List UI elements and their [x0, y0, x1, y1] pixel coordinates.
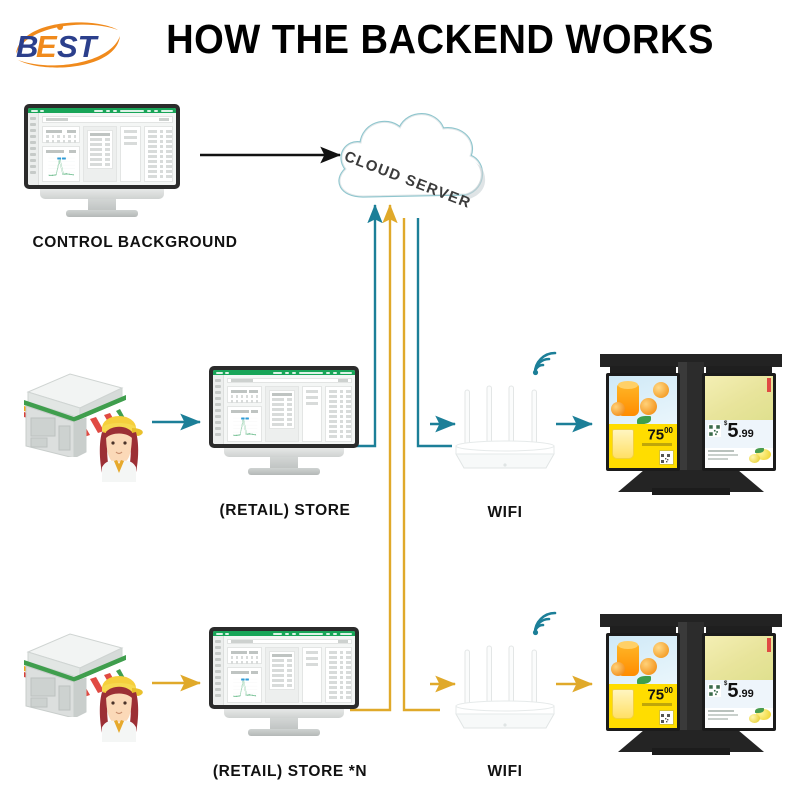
dashboard-col-table	[144, 126, 173, 182]
dashboard-col-left	[227, 647, 262, 703]
dashboard-list-panel	[87, 130, 113, 169]
wifi-label-top: WIFI	[440, 504, 570, 522]
topbar-right-icons	[94, 110, 173, 112]
retail-store-n-monitor	[209, 627, 359, 709]
signage-right-screen: $5.99	[702, 633, 776, 731]
dashboard-sidebar	[213, 636, 224, 705]
dashboard-filter-panel	[227, 386, 262, 403]
digital-signage-bottom: 7500	[592, 612, 790, 762]
wifi-label-bottom: WIFI	[440, 763, 570, 781]
signage-right-price: 5	[727, 420, 738, 442]
dashboard-col-left	[227, 386, 262, 442]
dashboard-screen	[213, 631, 355, 705]
topbar-right-icons	[273, 372, 352, 374]
wifi-signal-icon-top	[530, 349, 560, 377]
monitor-bezel	[24, 104, 180, 189]
wifi-signal-icon-bottom	[530, 609, 560, 637]
retail-n-monitor-chin	[224, 709, 344, 718]
store-clerk-n-icon	[88, 672, 150, 742]
qr-code-icon	[659, 450, 674, 465]
qr-code-icon	[659, 710, 674, 725]
topbar-left-icons	[31, 110, 44, 112]
flow-cloud-down-to-wifi-n	[404, 218, 440, 710]
line-chart	[46, 155, 76, 178]
store-clerk-icon	[88, 412, 150, 482]
dashboard-main	[224, 636, 355, 705]
retail-monitor-chin	[224, 448, 344, 457]
logo-text-st: ST	[57, 29, 100, 64]
signage-right-cents: .99	[738, 688, 753, 700]
wifi-router-bottom	[450, 642, 560, 734]
signage-left-screen: 7500	[606, 633, 680, 731]
digital-signage-top: 7500	[592, 352, 790, 502]
signage-right-screen: $5.99	[702, 373, 776, 471]
dashboard-col-narrow	[120, 126, 141, 182]
line-chart	[231, 415, 258, 438]
dashboard-screen	[28, 108, 176, 185]
dashboard-screen	[213, 370, 355, 444]
control-monitor-base	[66, 210, 138, 217]
dashboard-sidebar	[28, 113, 39, 185]
dashboard-columns	[42, 126, 173, 182]
dashboard-columns	[227, 647, 352, 703]
flow-cloud-down-to-wifi	[418, 218, 452, 446]
best-logo: B E ST	[8, 14, 128, 74]
dashboard-body	[213, 375, 355, 444]
signage-left-cents: 00	[664, 426, 673, 435]
topbar-right-icons	[273, 633, 352, 635]
dashboard-col-mid	[83, 126, 117, 182]
dashboard-sidebar	[213, 375, 224, 444]
signage-left-cents: 00	[664, 686, 673, 695]
retail-n-monitor-base	[248, 729, 320, 736]
page-title: HOW THE BACKEND WORKS	[152, 16, 729, 63]
dashboard-breadcrumb	[227, 639, 352, 644]
signage-left-price: 75	[647, 426, 664, 443]
dashboard-col-narrow	[302, 647, 322, 703]
logo-text-e: E	[36, 29, 58, 64]
signage-left-price: 75	[647, 686, 664, 703]
dashboard-breadcrumb	[42, 116, 173, 123]
dashboard-body	[28, 113, 176, 185]
dashboard-col-left	[42, 126, 80, 182]
signage-right-cents: .99	[738, 428, 753, 440]
dashboard-chart-panel	[227, 667, 262, 703]
retail-store-label: (RETAIL) STORE	[200, 502, 370, 520]
dashboard-list-panel	[269, 651, 295, 690]
topbar-left-icons	[216, 372, 229, 374]
retail-store-monitor	[209, 366, 359, 448]
wifi-router-top	[450, 382, 560, 474]
retail-store-n-label: (RETAIL) STORE *N	[195, 763, 385, 781]
dashboard-col-mid	[265, 647, 299, 703]
dashboard-chart-panel	[227, 406, 262, 442]
dashboard-main	[224, 375, 355, 444]
cloud-server-node: CLOUD SERVER	[330, 96, 495, 218]
control-background-label: CONTROL BACKGROUND	[10, 234, 260, 252]
signage-right-price: 5	[727, 680, 738, 702]
monitor-bezel	[209, 627, 359, 709]
retail-monitor-base	[248, 468, 320, 475]
dashboard-chart-panel	[42, 146, 80, 182]
dashboard-list-panel	[269, 390, 295, 429]
dashboard-col-table	[325, 386, 352, 442]
qr-code-icon	[708, 424, 721, 437]
dashboard-filter-panel	[227, 647, 262, 664]
monitor-bezel	[209, 366, 359, 448]
line-chart	[231, 676, 258, 699]
topbar-left-icons	[216, 633, 229, 635]
dashboard-main	[39, 113, 176, 185]
dashboard-col-narrow	[302, 386, 322, 442]
dashboard-body	[213, 636, 355, 705]
qr-code-icon	[708, 684, 721, 697]
dashboard-col-table	[325, 647, 352, 703]
dashboard-filter-panel	[42, 126, 80, 143]
signage-left-screen: 7500	[606, 373, 680, 471]
dashboard-col-mid	[265, 386, 299, 442]
dashboard-columns	[227, 386, 352, 442]
dashboard-breadcrumb	[227, 378, 352, 383]
control-monitor-chin	[40, 189, 164, 199]
control-background-monitor	[24, 104, 180, 189]
